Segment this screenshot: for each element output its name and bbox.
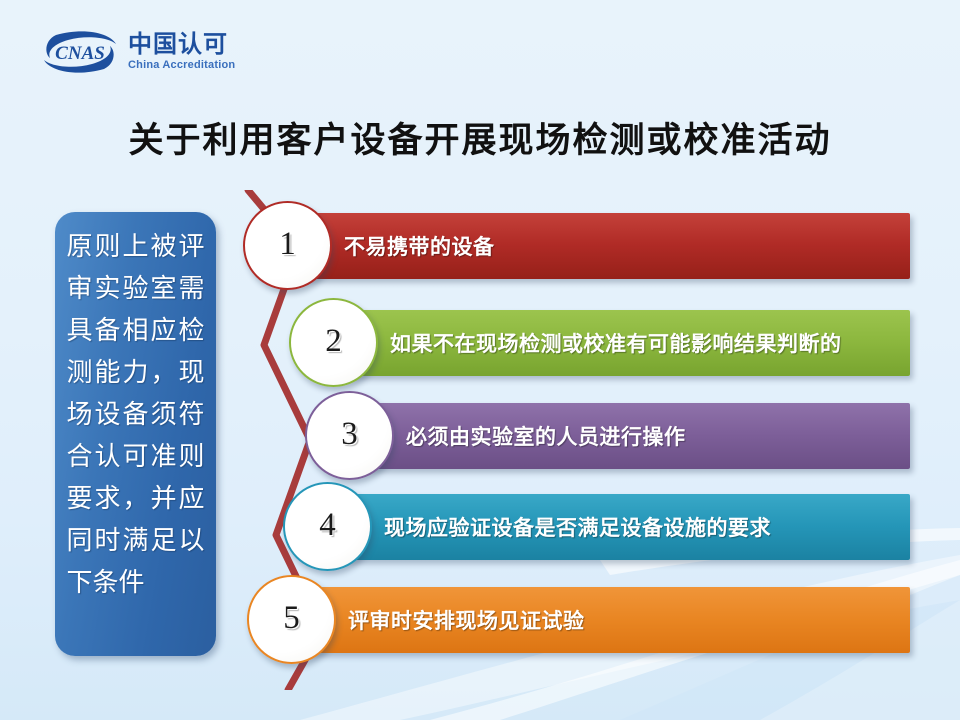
step-bar[interactable]: 必须由实验室的人员进行操作 <box>353 403 910 469</box>
step-bar[interactable]: 评审时安排现场见证试验 <box>295 587 910 653</box>
step-bar[interactable]: 不易携带的设备 <box>291 213 910 279</box>
step-label: 现场应验证设备是否满足设备设施的要求 <box>384 512 771 542</box>
step-number-badge[interactable]: 3 <box>305 391 394 480</box>
step-number-badge[interactable]: 5 <box>247 575 336 664</box>
step-number: 4 <box>319 509 336 542</box>
logo-text-block: 中国认可 China Accreditation <box>128 33 235 71</box>
step-number: 1 <box>279 228 296 261</box>
step-number-badge[interactable]: 2 <box>289 298 378 387</box>
step-number: 2 <box>325 325 342 358</box>
step-row: 如果不在现场检测或校准有可能影响结果判断的2 <box>0 310 960 376</box>
step-bar[interactable]: 如果不在现场检测或校准有可能影响结果判断的 <box>337 310 910 376</box>
logo-english-name: China Accreditation <box>128 60 235 71</box>
logo-chinese-name: 中国认可 <box>128 33 235 57</box>
svg-text:CNAS: CNAS <box>55 43 105 64</box>
page-title: 关于利用客户设备开展现场检测或校准活动 <box>0 112 960 163</box>
slide-canvas: CNAS 中国认可 China Accreditation 关于利用客户设备开展… <box>0 0 960 720</box>
step-number-badge[interactable]: 4 <box>283 482 372 571</box>
step-label: 必须由实验室的人员进行操作 <box>406 421 686 451</box>
step-number: 3 <box>341 418 358 451</box>
step-row: 评审时安排现场见证试验5 <box>0 587 960 653</box>
step-bar[interactable]: 现场应验证设备是否满足设备设施的要求 <box>331 494 910 560</box>
step-label: 不易携带的设备 <box>344 231 495 261</box>
step-number-badge[interactable]: 1 <box>243 201 332 290</box>
step-row: 必须由实验室的人员进行操作3 <box>0 403 960 469</box>
cnas-logo: CNAS 中国认可 China Accreditation <box>38 28 235 76</box>
step-label: 如果不在现场检测或校准有可能影响结果判断的 <box>390 328 842 358</box>
step-number: 5 <box>283 602 300 635</box>
step-row: 现场应验证设备是否满足设备设施的要求4 <box>0 494 960 560</box>
step-label: 评审时安排现场见证试验 <box>348 605 585 635</box>
step-row: 不易携带的设备1 <box>0 213 960 279</box>
cnas-logo-icon: CNAS <box>38 29 122 75</box>
